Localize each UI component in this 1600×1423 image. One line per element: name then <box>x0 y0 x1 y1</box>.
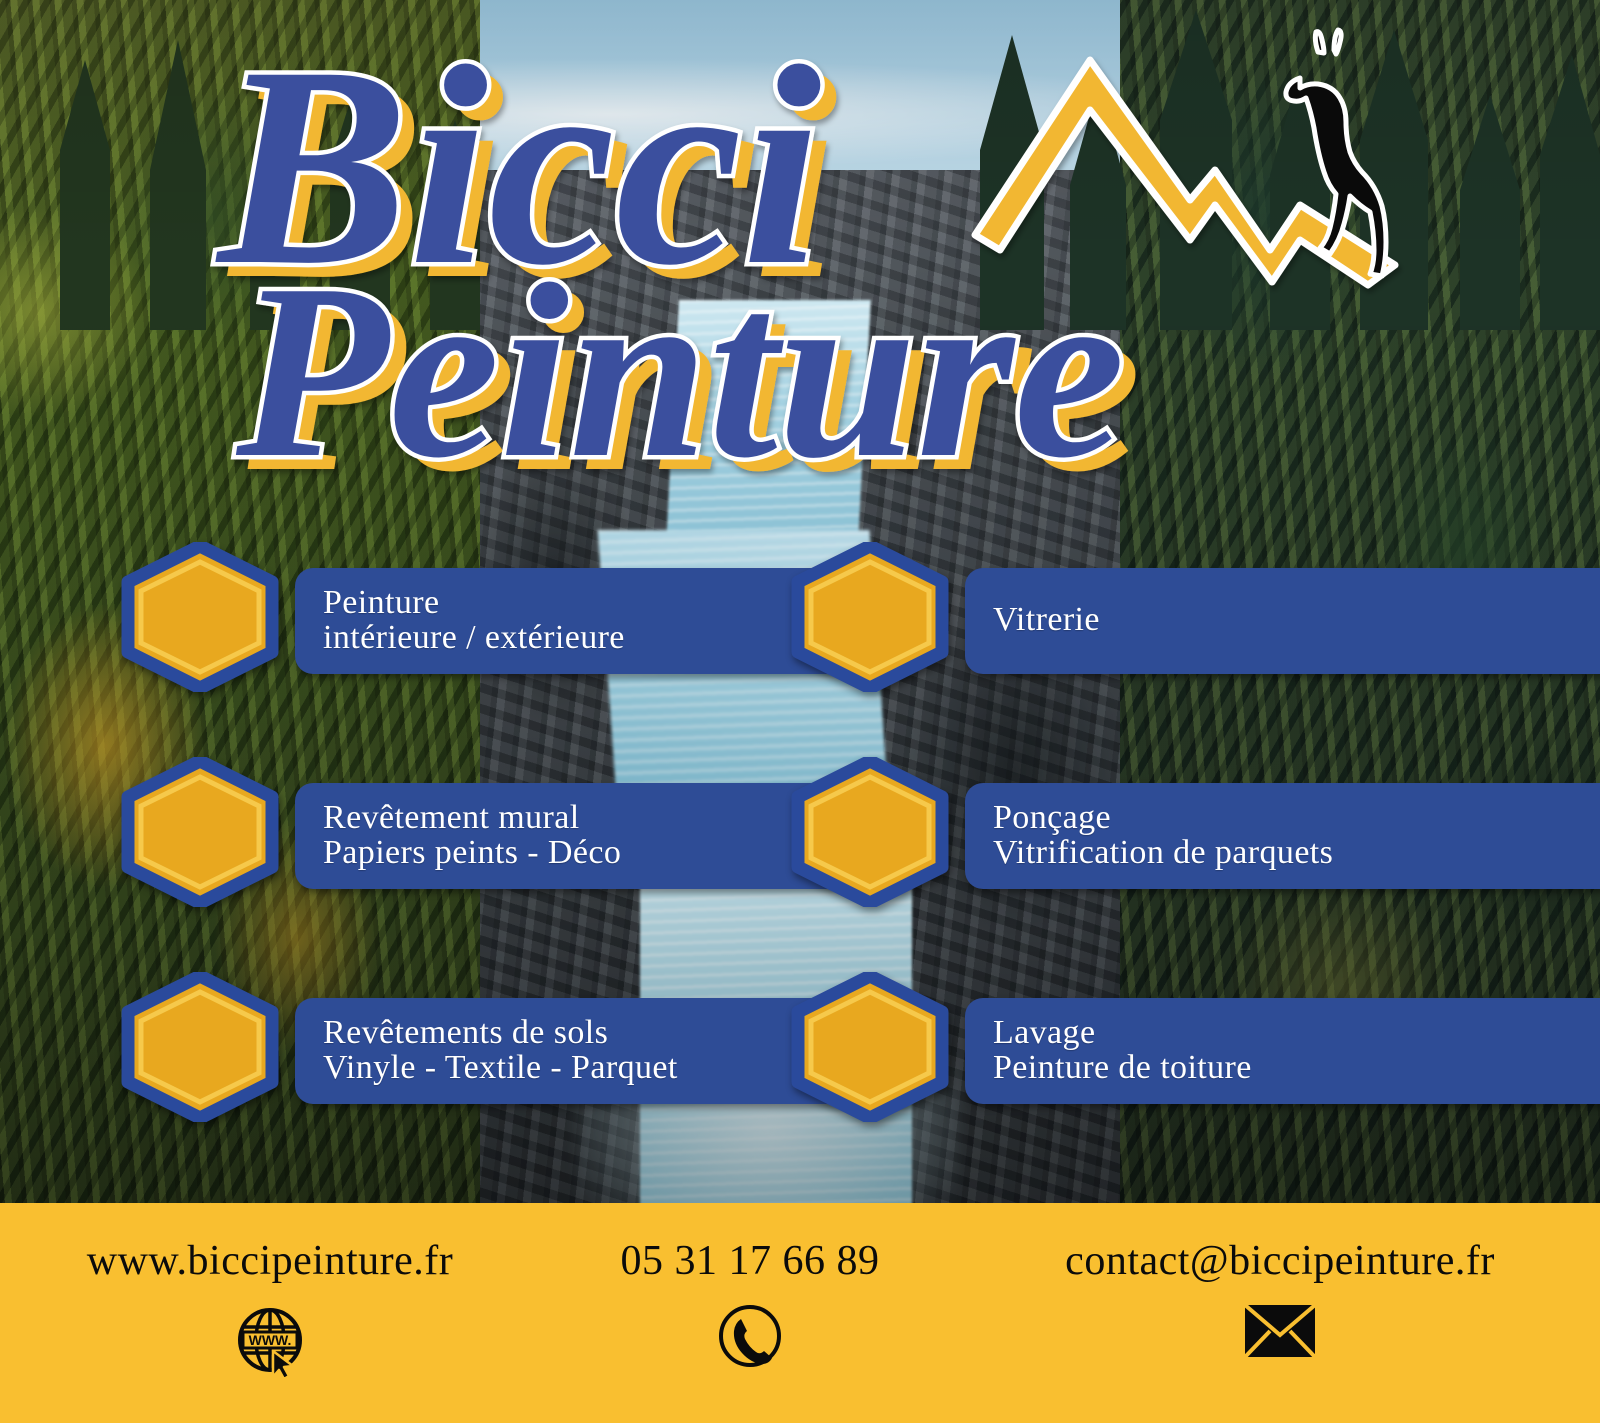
service-label-box: Lavage Peinture de toiture <box>965 998 1600 1104</box>
hexagon-bullet-icon <box>120 757 280 907</box>
service-line-1: Lavage <box>993 1015 1600 1050</box>
service-line-2: Vitrification de parquets <box>993 835 1600 870</box>
services-list: Peinture intérieure / extérieure Vitreri… <box>0 520 1600 1165</box>
phone-circle-icon <box>540 1303 960 1369</box>
hexagon-bullet-icon <box>790 757 950 907</box>
service-label-box: Ponçage Vitrification de parquets <box>965 783 1600 889</box>
service-line-2: Peinture de toiture <box>993 1050 1600 1085</box>
service-row-3: Revêtements de sols Vinyle - Textile - P… <box>0 950 1600 1165</box>
service-item-poncage[interactable]: Ponçage Vitrification de parquets <box>790 735 1450 950</box>
website-text: www.biccipeinture.fr <box>0 1237 540 1285</box>
svg-text:Peinture: Peinture <box>235 233 1125 500</box>
phone-text: 05 31 17 66 89 <box>540 1237 960 1285</box>
service-item-vitrerie[interactable]: Vitrerie <box>790 520 1450 735</box>
contact-email[interactable]: contact@biccipeinture.fr <box>960 1237 1600 1359</box>
envelope-icon <box>960 1303 1600 1359</box>
service-item-revetement-mural[interactable]: Revêtement mural Papiers peints - Déco <box>120 735 780 950</box>
hexagon-bullet-icon <box>790 972 950 1122</box>
service-row-2: Revêtement mural Papiers peints - Déco P… <box>0 735 1600 950</box>
logo: Bicci Bicci Peinture Peinture <box>0 0 1600 500</box>
service-label-box: Vitrerie <box>965 568 1600 674</box>
hexagon-bullet-icon <box>120 542 280 692</box>
contact-phone[interactable]: 05 31 17 66 89 <box>540 1237 960 1369</box>
logo-word-peinture: Peinture Peinture <box>235 233 1139 500</box>
service-line-1: Ponçage <box>993 800 1600 835</box>
globe-www-cursor-icon: WWW. <box>0 1303 540 1377</box>
hexagon-bullet-icon <box>120 972 280 1122</box>
hexagon-bullet-icon <box>790 542 950 692</box>
service-item-lavage[interactable]: Lavage Peinture de toiture <box>790 950 1450 1165</box>
service-item-peinture[interactable]: Peinture intérieure / extérieure <box>120 520 780 735</box>
poster: Bicci Bicci Peinture Peinture Pein <box>0 0 1600 1423</box>
service-row-1: Peinture intérieure / extérieure Vitreri… <box>0 520 1600 735</box>
logo-artwork: Bicci Bicci Peinture Peinture <box>0 0 1600 500</box>
contact-website[interactable]: www.biccipeinture.fr WWW. <box>0 1237 540 1377</box>
contact-footer: www.biccipeinture.fr WWW. 05 31 17 <box>0 1203 1600 1423</box>
service-item-revetements-sols[interactable]: Revêtements de sols Vinyle - Textile - P… <box>120 950 780 1165</box>
svg-text:WWW.: WWW. <box>249 1332 292 1348</box>
service-line-1: Vitrerie <box>993 596 1600 643</box>
email-text: contact@biccipeinture.fr <box>960 1237 1600 1285</box>
